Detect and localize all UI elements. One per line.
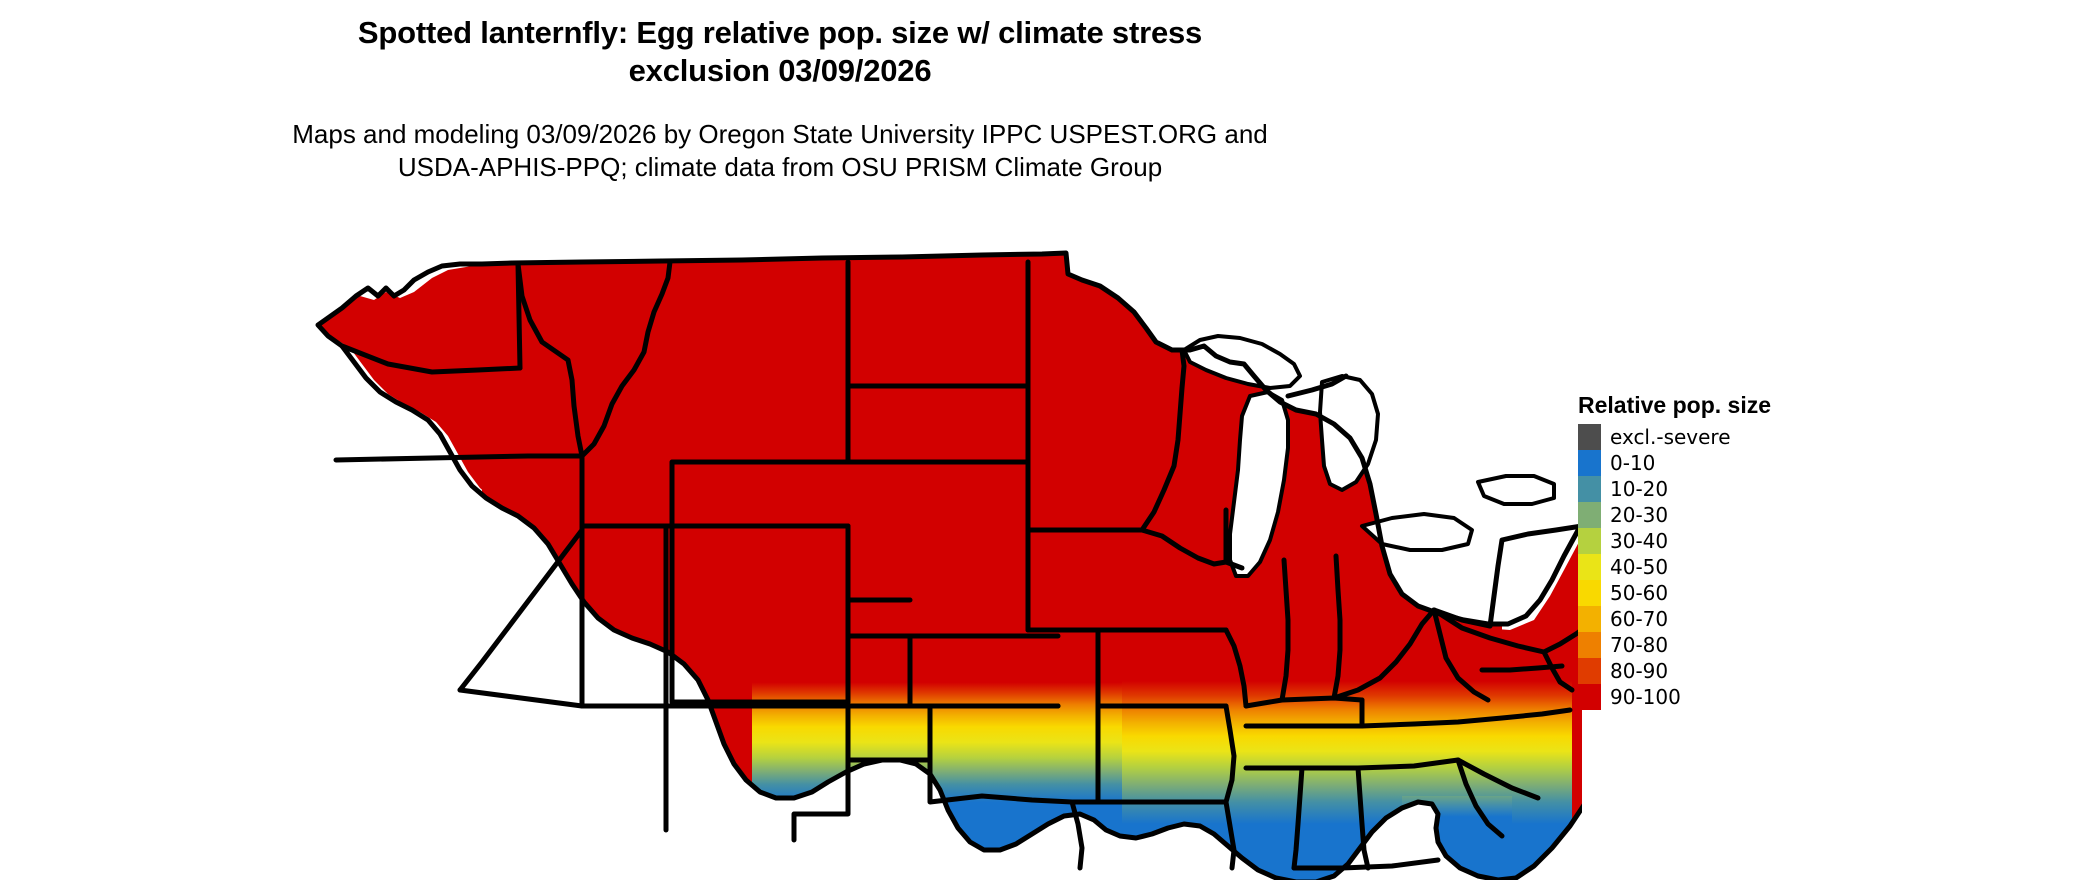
legend-swatch-9: [1578, 658, 1601, 684]
legend-swatch-6: [1578, 580, 1601, 606]
legend-label-10: 90-100: [1610, 684, 1860, 710]
legend-label-0: excl.-severe: [1610, 424, 1860, 450]
legend-swatch-10: [1578, 684, 1601, 710]
legend-label-9: 80-90: [1610, 658, 1860, 684]
legend-color-bar: [1578, 424, 1601, 710]
legend-label-1: 0-10: [1610, 450, 1860, 476]
legend-title: Relative pop. size: [1578, 392, 1878, 418]
legend-label-7: 60-70: [1610, 606, 1860, 632]
legend-label-6: 50-60: [1610, 580, 1860, 606]
legend-swatch-8: [1578, 632, 1601, 658]
title-line-2: exclusion 03/09/2026: [0, 52, 1560, 90]
legend-swatch-3: [1578, 502, 1601, 528]
map-legend: Relative pop. size excl.-severe0-1010-20…: [1578, 392, 1878, 710]
lake-ontario: [1478, 476, 1554, 504]
subtitle-line-2: USDA-APHIS-PPQ; climate data from OSU PR…: [0, 151, 1560, 184]
legend-label-4: 30-40: [1610, 528, 1860, 554]
legend-swatch-0: [1578, 424, 1601, 450]
page-subtitle: Maps and modeling 03/09/2026 by Oregon S…: [0, 118, 1560, 184]
legend-swatch-5: [1578, 554, 1601, 580]
legend-swatch-7: [1578, 606, 1601, 632]
title-line-1: Spotted lanternfly: Egg relative pop. si…: [0, 14, 1560, 52]
page-title: Spotted lanternfly: Egg relative pop. si…: [0, 14, 1560, 90]
subtitle-line-1: Maps and modeling 03/09/2026 by Oregon S…: [0, 118, 1560, 151]
us-map-svg: [282, 200, 1582, 880]
legend-label-3: 20-30: [1610, 502, 1860, 528]
legend-label-5: 40-50: [1610, 554, 1860, 580]
figure-root: Spotted lanternfly: Egg relative pop. si…: [0, 0, 2100, 892]
choropleth-map: [282, 200, 1582, 880]
legend-swatch-2: [1578, 476, 1601, 502]
legend-label-list: excl.-severe0-1010-2020-3030-4040-5050-6…: [1610, 424, 1860, 710]
legend-label-2: 10-20: [1610, 476, 1860, 502]
legend-swatch-1: [1578, 450, 1601, 476]
legend-swatch-4: [1578, 528, 1601, 554]
legend-body: excl.-severe0-1010-2020-3030-4040-5050-6…: [1578, 424, 1868, 710]
legend-label-8: 70-80: [1610, 632, 1860, 658]
